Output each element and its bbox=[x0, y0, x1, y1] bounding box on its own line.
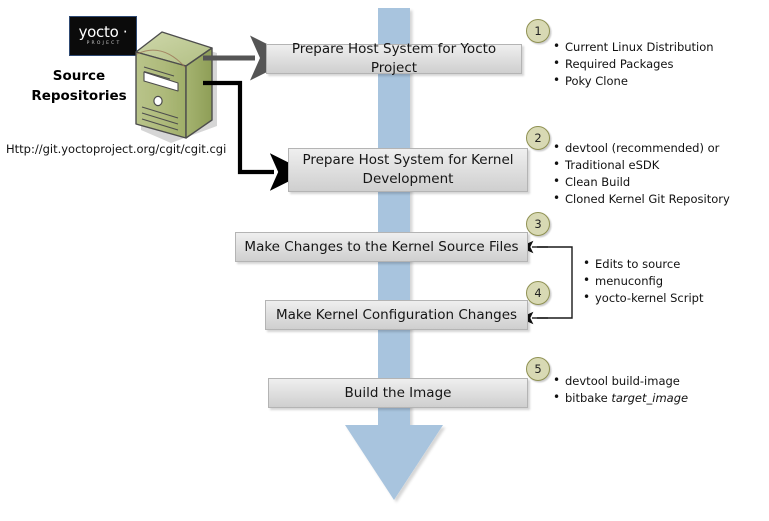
process-box-label: Prepare Host System for Kernel Developme… bbox=[302, 151, 513, 189]
step-badge-number: 1 bbox=[534, 24, 541, 38]
process-box-label: Make Changes to the Kernel Source Files bbox=[244, 238, 518, 257]
note-item: Poky Clone bbox=[553, 73, 758, 90]
note-bitbake-command: bitbake bbox=[565, 391, 611, 405]
process-box-make-kernel-source-changes[interactable]: Make Changes to the Kernel Source Files bbox=[235, 232, 528, 262]
process-box-label-line2: Development bbox=[363, 171, 454, 187]
process-box-label: Prepare Host System for Yocto Project bbox=[275, 40, 513, 78]
note-item-continuation: Traditional eSDK bbox=[553, 157, 753, 174]
source-label-line2: Repositories bbox=[18, 86, 140, 106]
note-bitbake-target: target_image bbox=[611, 391, 688, 405]
step-badge-number: 3 bbox=[534, 217, 541, 231]
source-repository-url: Http://git.yoctoproject.org/cgit/cgit.cg… bbox=[6, 142, 226, 156]
process-box-make-kernel-config-changes[interactable]: Make Kernel Configuration Changes bbox=[265, 300, 528, 330]
source-label-line1: Source bbox=[18, 66, 140, 86]
note-item: Required Packages bbox=[553, 56, 758, 73]
step-5-notes: devtool build-image bitbake target_image bbox=[553, 373, 743, 407]
note-item-bitbake: bitbake target_image bbox=[553, 390, 743, 407]
yocto-project-logo: yocto · PROJECT bbox=[69, 16, 137, 56]
diagram-canvas: yocto · PROJECT Source Repositories Http… bbox=[0, 0, 769, 517]
note-item: devtool build-image bbox=[553, 373, 743, 390]
process-box-prepare-host-yocto[interactable]: Prepare Host System for Yocto Project bbox=[266, 44, 522, 74]
process-box-label: Make Kernel Configuration Changes bbox=[276, 306, 517, 325]
note-item: Clean Build bbox=[553, 174, 753, 191]
step-2-notes: devtool (recommended) or Traditional eSD… bbox=[553, 140, 753, 208]
process-box-build-image[interactable]: Build the Image bbox=[268, 378, 528, 408]
note-item: menuconfig bbox=[583, 273, 753, 290]
note-item: Cloned Kernel Git Repository bbox=[553, 191, 753, 208]
note-item: Edits to source bbox=[583, 256, 753, 273]
step-badge-number: 2 bbox=[534, 131, 541, 145]
logo-subtext: PROJECT bbox=[87, 42, 122, 47]
process-box-label: Build the Image bbox=[345, 384, 452, 403]
process-box-label-line1: Prepare Host System for Kernel bbox=[302, 152, 513, 168]
note-item: yocto-kernel Script bbox=[583, 290, 753, 307]
step-badge-1: 1 bbox=[526, 19, 550, 43]
step-badge-2: 2 bbox=[526, 126, 550, 150]
step-badge-4: 4 bbox=[526, 281, 550, 305]
step-1-notes: Current Linux Distribution Required Pack… bbox=[553, 39, 758, 90]
note-item: devtool (recommended) or bbox=[553, 140, 753, 157]
step-3-4-shared-notes: Edits to source menuconfig yocto-kernel … bbox=[583, 256, 753, 307]
step-badge-5: 5 bbox=[526, 357, 550, 381]
server-tower-icon bbox=[128, 28, 220, 143]
source-repositories-label: Source Repositories bbox=[18, 66, 140, 106]
step-badge-number: 5 bbox=[534, 362, 541, 376]
step-badge-3: 3 bbox=[526, 212, 550, 236]
logo-wordmark: yocto · bbox=[79, 25, 128, 40]
step-badge-number: 4 bbox=[534, 286, 541, 300]
process-box-prepare-host-kernel[interactable]: Prepare Host System for Kernel Developme… bbox=[288, 148, 528, 192]
note-item: Current Linux Distribution bbox=[553, 39, 758, 56]
